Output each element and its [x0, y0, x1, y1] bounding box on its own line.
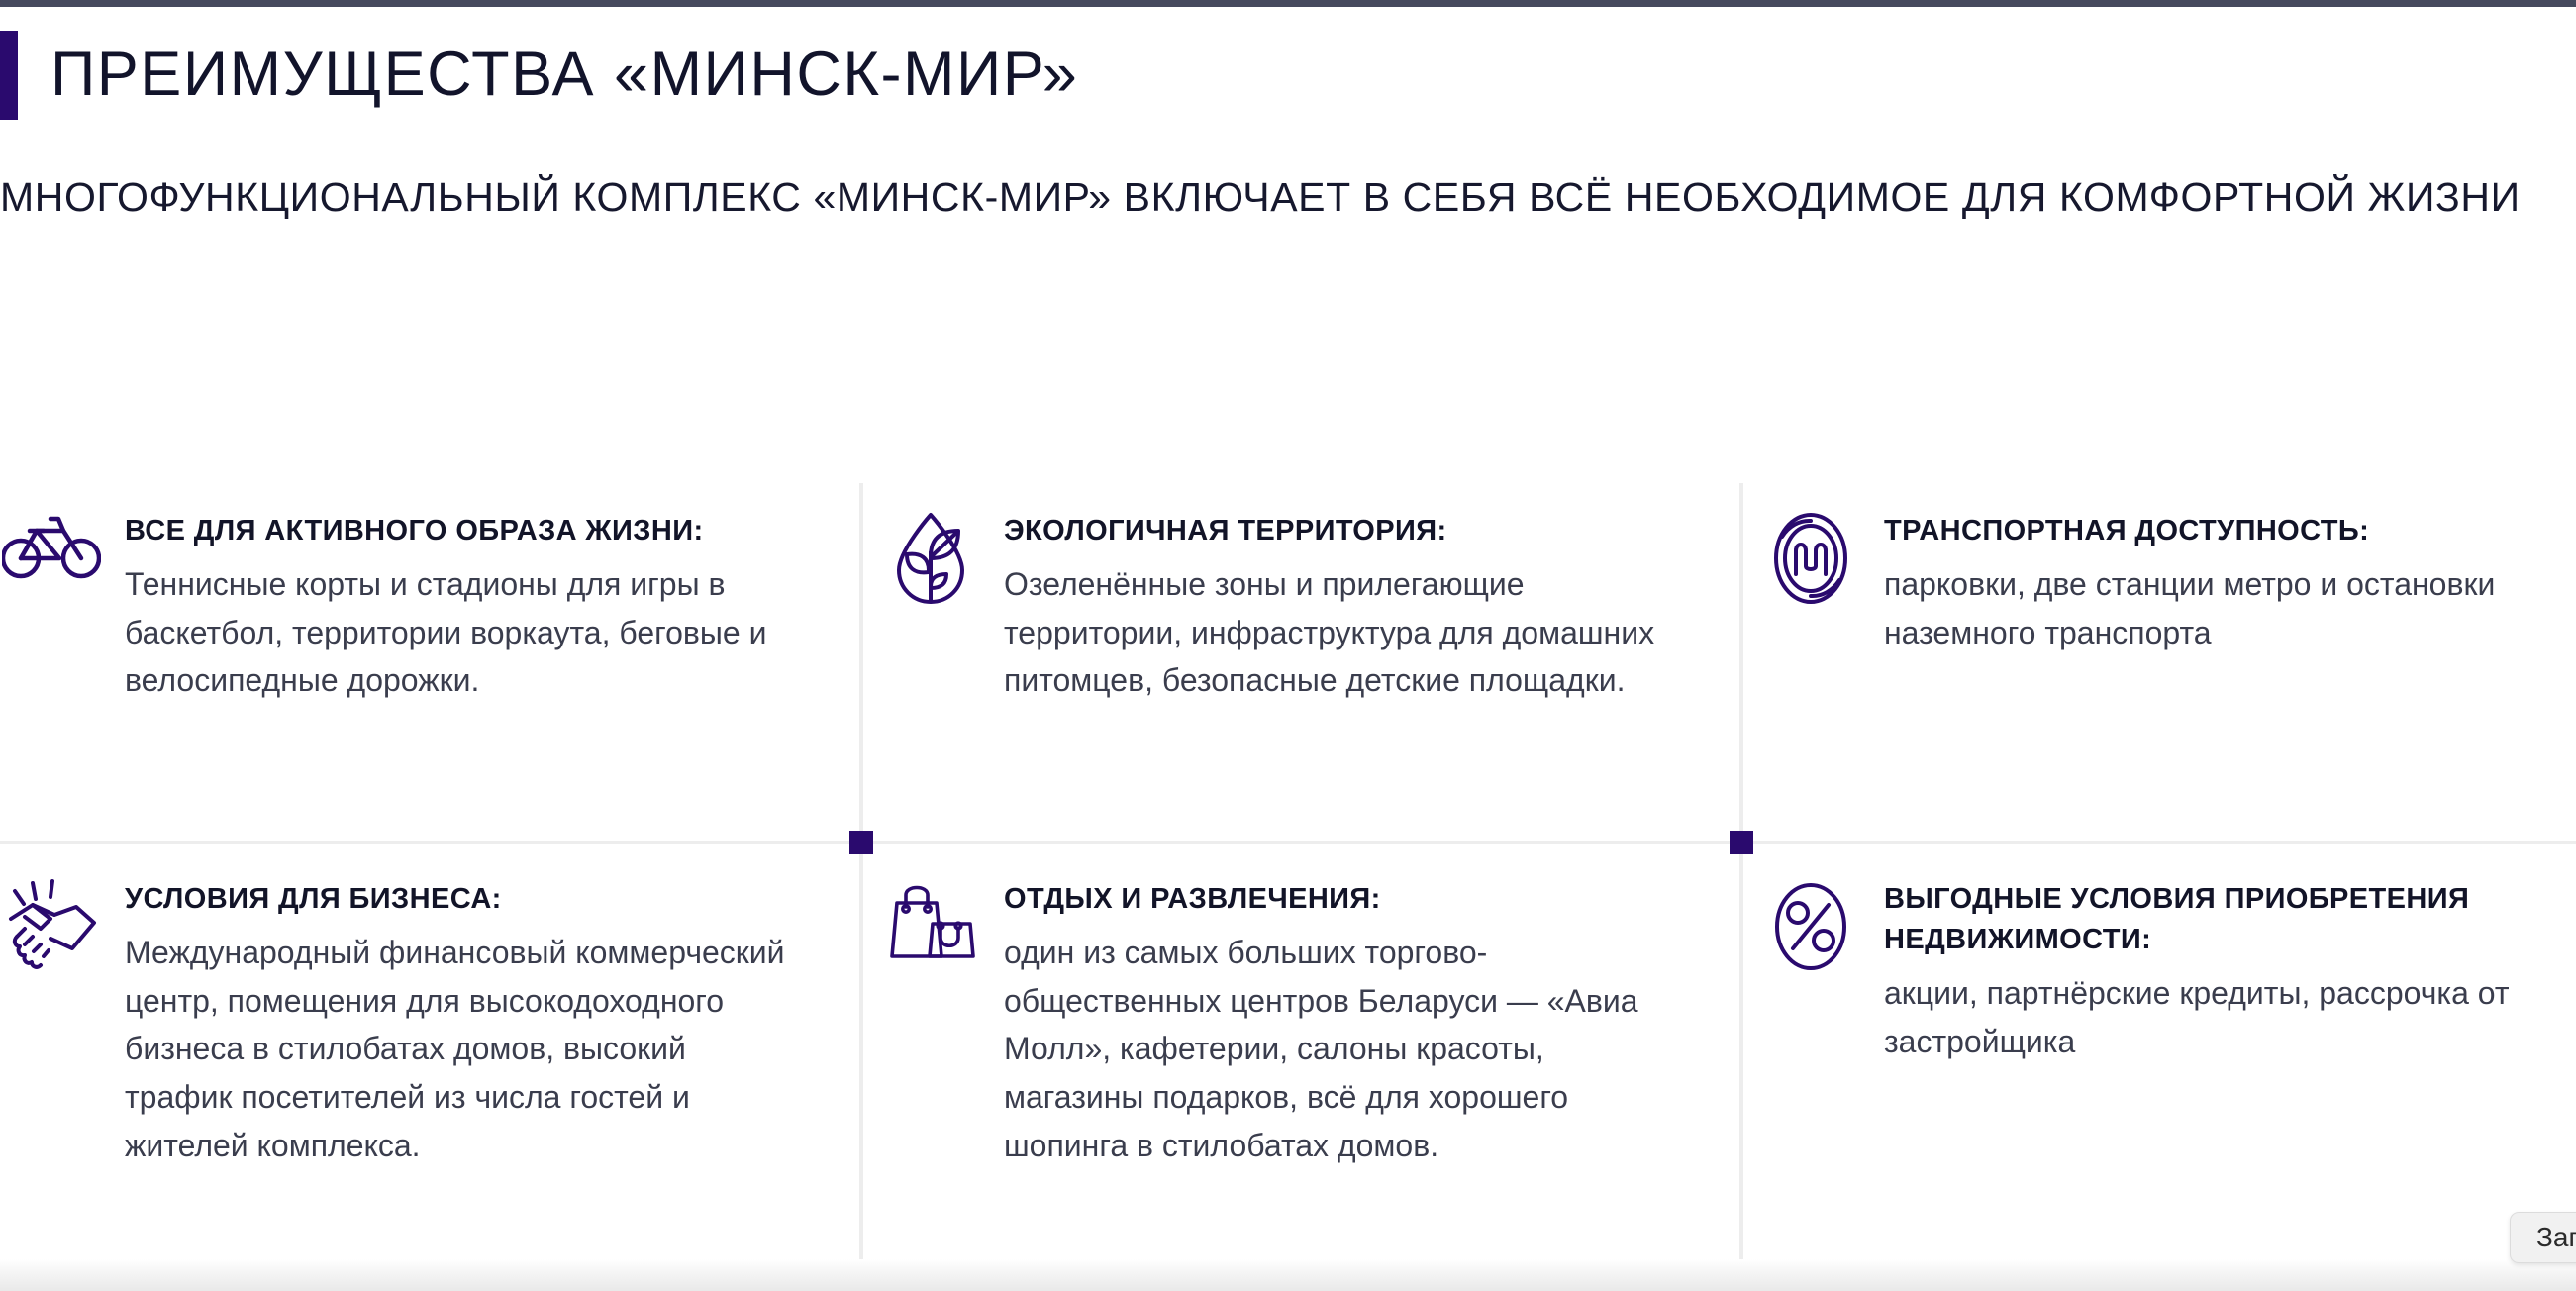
- advantage-card-body: ВСЕ ДЛЯ АКТИВНОГО ОБРАЗА ЖИЗНИ: Теннисны…: [125, 509, 788, 705]
- heading-accent-bar: [0, 31, 18, 120]
- advantage-card-title: ВЫГОДНЫЕ УСЛОВИЯ ПРИОБРЕТЕНИЯ НЕДВИЖИМОС…: [1884, 879, 2551, 960]
- percent-circle-icon: [1759, 877, 1862, 980]
- advantage-card-leisure: ОТДЫХ И РАЗВЛЕЧЕНИЯ: один из самых больш…: [879, 877, 1661, 1169]
- grid-divider-vertical-2: [1739, 483, 1743, 1265]
- advantage-card-title: ОТДЫХ И РАЗВЛЕЧЕНИЯ:: [1004, 879, 1657, 920]
- advantage-card-text: Теннисные корты и стадионы для игры в ба…: [125, 560, 788, 705]
- advantage-card-title: УСЛОВИЯ ДЛЯ БИЗНЕСА:: [125, 879, 788, 920]
- advantage-card-text: Озеленённые зоны и прилегающие территори…: [1004, 560, 1657, 705]
- grid-node-marker-1: [849, 831, 873, 854]
- page-heading: ПРЕИМУЩЕСТВА «МИНСК-МИР»: [0, 28, 2576, 122]
- advantage-card-text: Международный финансовый коммерческий це…: [125, 929, 788, 1169]
- advantage-card-title: ЭКОЛОГИЧНАЯ ТЕРРИТОРИЯ:: [1004, 511, 1657, 551]
- advantage-card-body: ЭКОЛОГИЧНАЯ ТЕРРИТОРИЯ: Озеленённые зоны…: [1004, 509, 1657, 705]
- advantage-card-business: УСЛОВИЯ ДЛЯ БИЗНЕСА: Международный финан…: [0, 877, 792, 1169]
- shopping-bags-icon: [879, 877, 982, 980]
- metro-icon: [1759, 509, 1862, 612]
- advantage-card-body: ТРАНСПОРТНАЯ ДОСТУПНОСТЬ: парковки, две …: [1884, 509, 2551, 656]
- page-root: ПРЕИМУЩЕСТВА «МИНСК-МИР» МНОГОФУНКЦИОНАЛ…: [0, 0, 2576, 1291]
- advantage-card-body: УСЛОВИЯ ДЛЯ БИЗНЕСА: Международный финан…: [125, 877, 788, 1169]
- page-title: ПРЕИМУЩЕСТВА «МИНСК-МИР»: [50, 44, 1078, 106]
- handshake-icon: [0, 877, 103, 980]
- floating-action-button[interactable]: Зап: [2510, 1212, 2576, 1263]
- advantage-card-transport: ТРАНСПОРТНАЯ ДОСТУПНОСТЬ: парковки, две …: [1759, 509, 2551, 656]
- advantages-grid: ВСЕ ДЛЯ АКТИВНОГО ОБРАЗА ЖИЗНИ: Теннисны…: [0, 483, 2576, 1265]
- advantage-card-text: акции, партнёрские кредиты, рассрочка от…: [1884, 969, 2551, 1065]
- advantage-card-active-lifestyle: ВСЕ ДЛЯ АКТИВНОГО ОБРАЗА ЖИЗНИ: Теннисны…: [0, 509, 792, 705]
- advantage-card-body: ОТДЫХ И РАЗВЛЕЧЕНИЯ: один из самых больш…: [1004, 877, 1657, 1169]
- page-subtitle: МНОГОФУНКЦИОНАЛЬНЫЙ КОМПЛЕКС «МИНСК-МИР»…: [0, 168, 2574, 227]
- advantage-card-title: ТРАНСПОРТНАЯ ДОСТУПНОСТЬ:: [1884, 511, 2551, 551]
- grid-divider-horizontal: [0, 841, 2576, 844]
- advantage-card-text: парковки, две станции метро и остановки …: [1884, 560, 2551, 656]
- browser-chrome-bar: [0, 0, 2576, 7]
- advantage-card-title: ВСЕ ДЛЯ АКТИВНОГО ОБРАЗА ЖИЗНИ:: [125, 511, 788, 551]
- advantage-card-body: ВЫГОДНЫЕ УСЛОВИЯ ПРИОБРЕТЕНИЯ НЕДВИЖИМОС…: [1884, 877, 2551, 1066]
- advantage-card-eco-territory: ЭКОЛОГИЧНАЯ ТЕРРИТОРИЯ: Озеленённые зоны…: [879, 509, 1661, 705]
- page-bottom-fade: [0, 1259, 2576, 1291]
- eco-leaf-drop-icon: [879, 509, 982, 612]
- advantage-card-text: один из самых больших торгово-общественн…: [1004, 929, 1657, 1169]
- grid-divider-vertical-1: [859, 483, 863, 1265]
- grid-node-marker-2: [1730, 831, 1753, 854]
- advantage-card-purchase-terms: ВЫГОДНЫЕ УСЛОВИЯ ПРИОБРЕТЕНИЯ НЕДВИЖИМОС…: [1759, 877, 2551, 1066]
- bicycle-icon: [0, 509, 103, 612]
